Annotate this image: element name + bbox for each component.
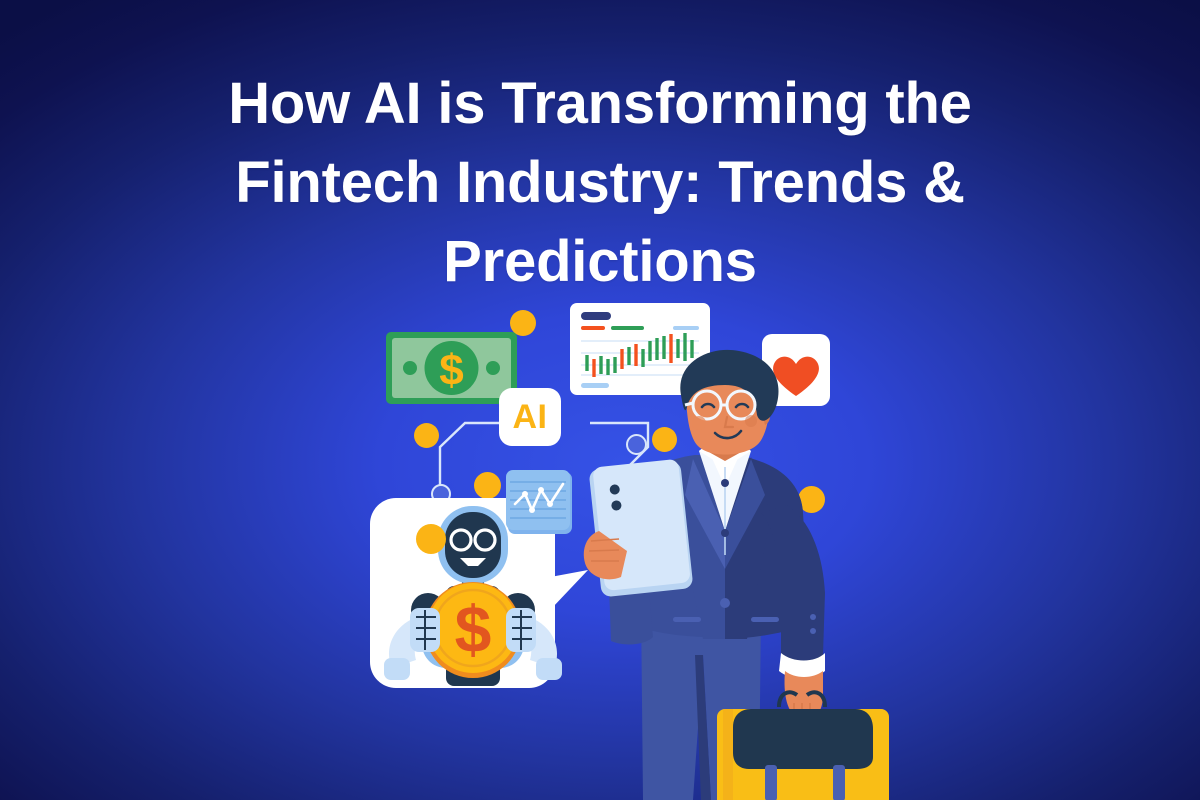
accent-dot-2 — [414, 423, 439, 448]
accent-dot-3 — [474, 472, 501, 499]
svg-text:$: $ — [439, 346, 463, 395]
robot-hand-right — [506, 608, 536, 652]
hero-banner: How AI is Transforming the Fintech Indus… — [0, 0, 1200, 800]
businessman-character — [575, 355, 875, 800]
accent-dot-7 — [416, 524, 446, 554]
ai-badge-label: AI — [513, 400, 548, 434]
ai-fintech-illustration: $ — [0, 0, 1200, 800]
svg-text:$: $ — [455, 592, 492, 666]
robot-hand-left — [410, 608, 440, 652]
ai-badge: AI — [499, 388, 561, 446]
ai-robot: $ — [378, 500, 568, 690]
money-banknote: $ — [386, 332, 517, 404]
